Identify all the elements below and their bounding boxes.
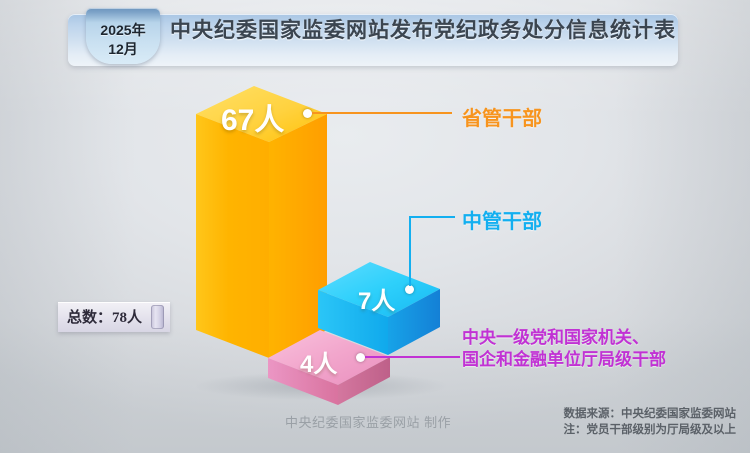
date-month: 12月 [86,39,160,59]
date-year: 2025年 [86,20,160,40]
footnote-line: 注：党员干部级别为厅局级及以上 [564,422,737,438]
connector-purple [365,356,460,358]
bar-pink-value: 4人 [300,344,337,379]
total-label: 总数：78人 [67,306,142,327]
infographic-canvas: 2025年 12月 中央纪委国家监委网站发布党纪政务处分信息统计表 总数：78人 [0,0,750,453]
bar-yellow-value: 67人 [221,95,284,139]
legend-purple-line2: 国企和金融单位厅局级干部 [462,349,666,371]
bar-cyan-value: 7人 [358,281,395,316]
connector-cyan-vertical [409,216,411,286]
legend-label-purple: 中央一级党和国家机关、 国企和金融单位厅局级干部 [462,327,666,371]
connector-orange [312,112,452,114]
bar-pink-dot [356,353,365,362]
page-title: 中央纪委国家监委网站发布党纪政务处分信息统计表 [170,14,670,44]
connector-cyan-horizontal [409,216,455,218]
date-badge: 2025年 12月 [86,8,160,64]
scroll-icon [151,305,164,329]
legend-label-orange: 省管干部 [462,102,542,131]
credit-text: 中央纪委国家监委网站 制作 [285,412,451,431]
data-source-line: 数据来源：中央纪委国家监委网站 [564,406,737,422]
source-note: 数据来源：中央纪委国家监委网站 注：党员干部级别为厅局级及以上 [564,406,737,438]
bar-yellow-dot [303,109,312,118]
bar-cyan-dot [405,285,414,294]
total-badge: 总数：78人 [58,302,170,332]
legend-label-cyan: 中管干部 [462,205,542,234]
legend-purple-line1: 中央一级党和国家机关、 [462,327,666,349]
